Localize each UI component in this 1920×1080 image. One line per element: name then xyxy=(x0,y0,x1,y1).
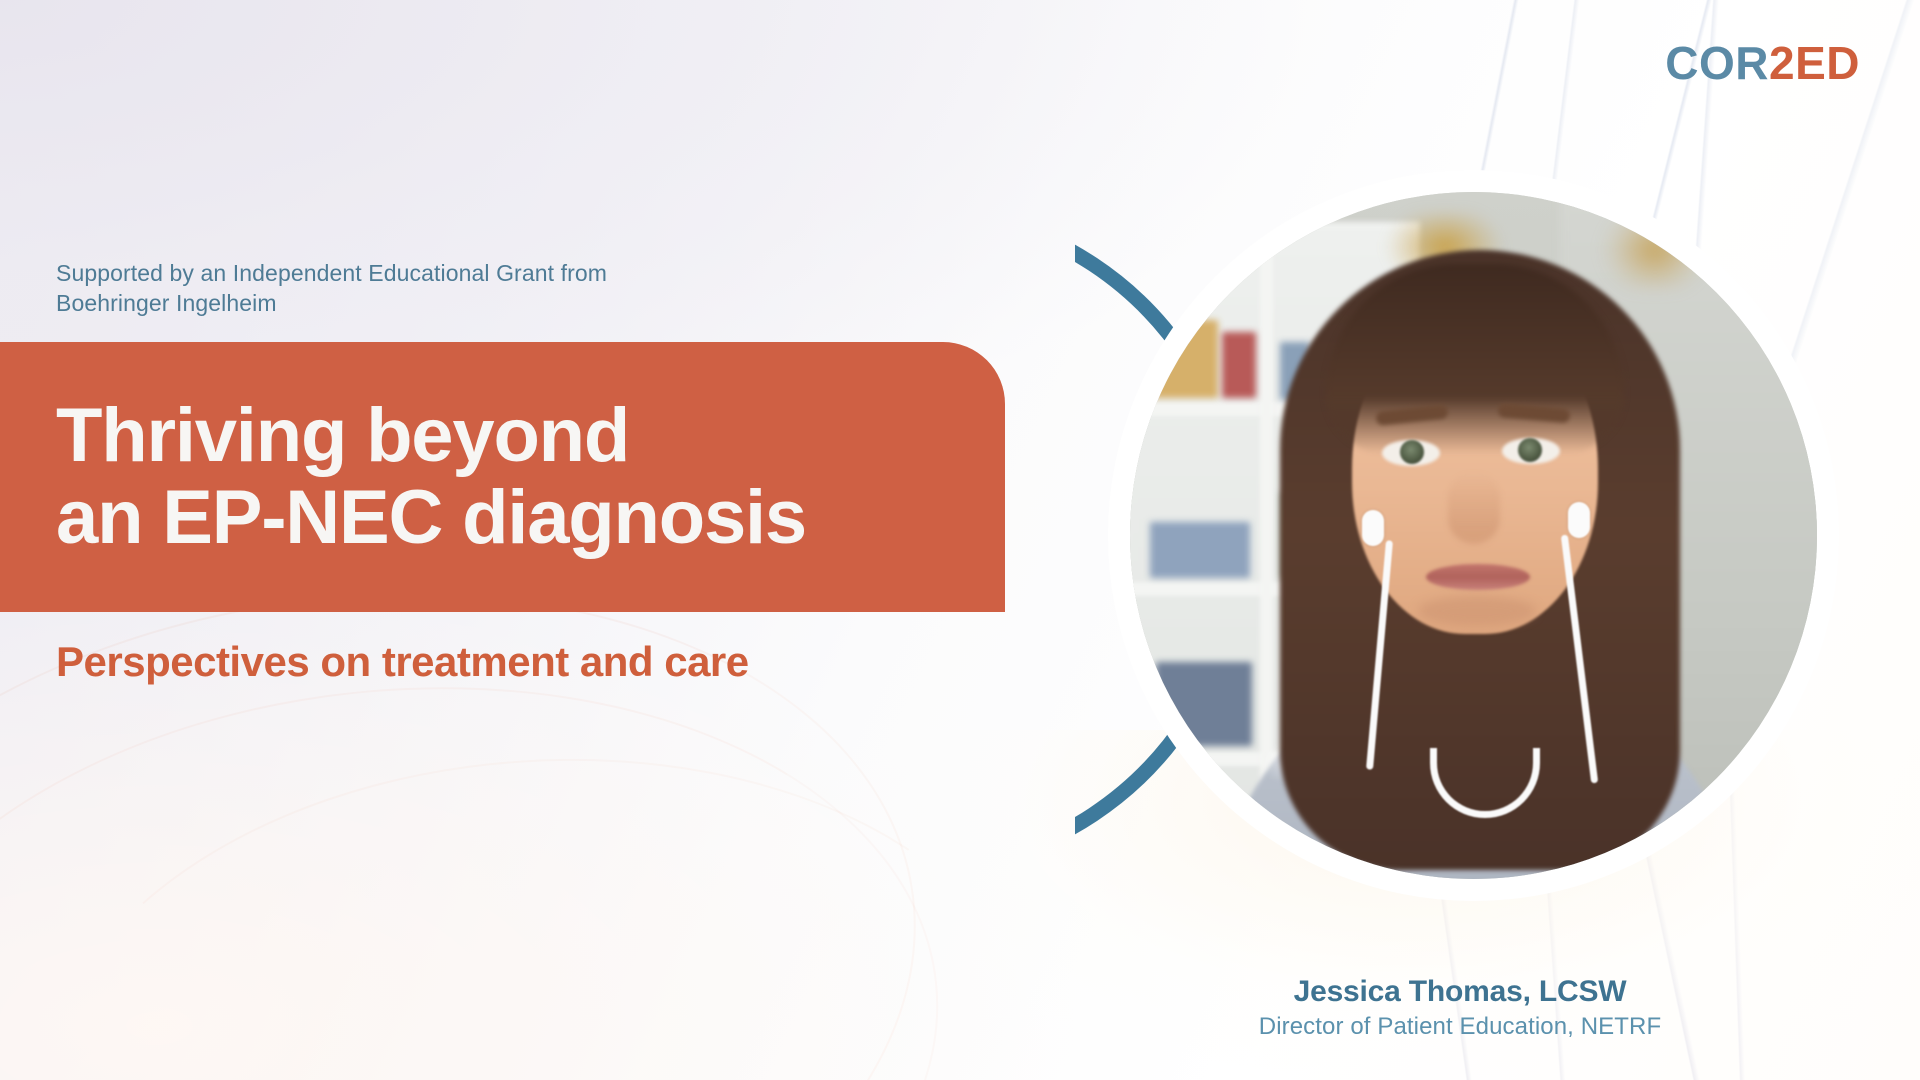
speaker-role: Director of Patient Education, NETRF xyxy=(1180,1013,1740,1041)
mouth xyxy=(1426,564,1530,590)
person-figure xyxy=(1130,192,1817,879)
background-swirl-3 xyxy=(19,726,1061,1080)
subtitle: Perspectives on treatment and care xyxy=(56,638,749,686)
slide-canvas: COR2ED Supported by an Independent Educa… xyxy=(0,0,1920,1080)
nose xyxy=(1448,472,1500,544)
grant-line-2: Boehringer Ingelheim xyxy=(56,288,816,318)
logo-text-2: 2 xyxy=(1769,37,1795,89)
chin-shadow xyxy=(1418,596,1536,626)
title-line-1: Thriving beyond xyxy=(56,395,1005,477)
speaker-photo xyxy=(1130,192,1817,879)
speaker-caption: Jessica Thomas, LCSW Director of Patient… xyxy=(1180,975,1740,1041)
background-swirl-2 xyxy=(0,634,974,1080)
grant-acknowledgement: Supported by an Independent Educational … xyxy=(56,258,816,319)
iris-right xyxy=(1518,438,1542,462)
title-banner: Thriving beyond an EP-NEC diagnosis xyxy=(0,342,1005,612)
logo-text-ed: ED xyxy=(1795,37,1860,89)
logo-text-cor: COR xyxy=(1665,37,1769,89)
earbud-right-icon xyxy=(1568,502,1590,538)
cor2ed-logo[interactable]: COR2ED xyxy=(1665,40,1860,86)
earbud-left-icon xyxy=(1362,510,1384,546)
speaker-portrait-group xyxy=(1075,145,1865,935)
title-line-2: an EP-NEC diagnosis xyxy=(56,477,1005,559)
speaker-name: Jessica Thomas, LCSW xyxy=(1180,975,1740,1010)
grant-line-1: Supported by an Independent Educational … xyxy=(56,258,816,288)
iris-left xyxy=(1400,440,1424,464)
